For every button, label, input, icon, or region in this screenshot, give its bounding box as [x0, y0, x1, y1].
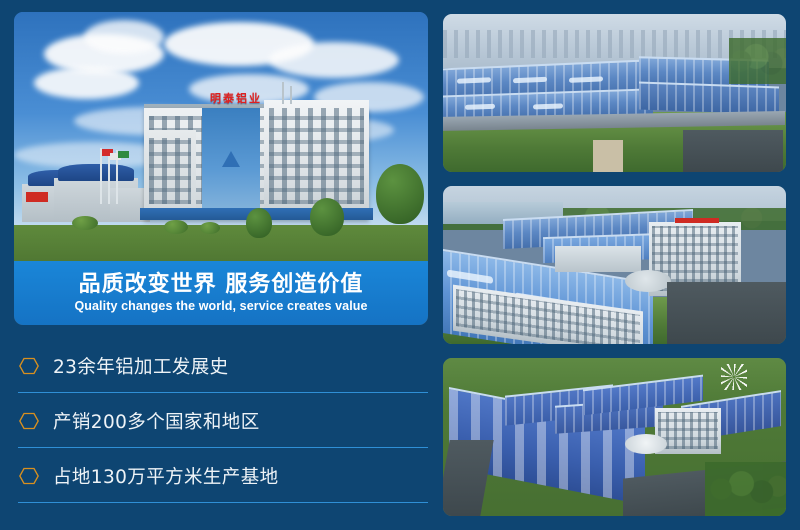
list-item[interactable]: 占地130万平方米生产基地 [14, 448, 428, 503]
building-sign-text: 明泰铝业 [210, 90, 262, 106]
low-office-building [555, 246, 641, 272]
cloud [34, 67, 139, 99]
window-grid [149, 138, 191, 204]
slogan-english: Quality changes the world, service creat… [74, 299, 367, 313]
bush [72, 216, 98, 230]
treeline [729, 38, 786, 84]
aerial-factory-wide-photo[interactable] [443, 14, 786, 172]
industrial-complex-photo[interactable] [443, 186, 786, 344]
fountain-plaza [625, 434, 667, 454]
list-item[interactable]: 产销200多个国家和地区 [14, 393, 428, 448]
bush [200, 222, 220, 234]
hexagon-bullet-icon [19, 466, 39, 486]
tree [310, 198, 344, 236]
treeline [705, 462, 786, 516]
parking-lot [683, 130, 783, 172]
facts-list: 23余年铝加工发展史 产销200多个国家和地区 占地130万平方米生产基地 [14, 338, 428, 503]
factory-shed-roof [58, 164, 134, 181]
office-building-left-wing [144, 130, 196, 220]
left-column: 明泰铝业 品质改变世界 服务创造价值 Quality changes the w… [14, 12, 428, 518]
bush [164, 220, 188, 234]
product-intro-page: 明泰铝业 品质改变世界 服务创造价值 Quality changes the w… [0, 0, 800, 530]
factory-roof [639, 82, 779, 115]
list-item-label: 23余年铝加工发展史 [53, 353, 229, 379]
red-signboard [26, 192, 48, 202]
window-grid [269, 108, 364, 204]
sunburst-icon [721, 364, 747, 390]
main-road [667, 282, 786, 344]
circular-plaza [625, 270, 671, 292]
tree [376, 164, 424, 224]
slogan-banner: 品质改变世界 服务创造价值 Quality changes the world,… [14, 261, 428, 325]
gallery-column [443, 14, 786, 516]
hexagon-bullet-icon [19, 356, 39, 376]
flag-pole [100, 148, 102, 204]
access-road [593, 140, 623, 172]
antenna-mast [290, 86, 292, 104]
window-grid [658, 412, 718, 449]
tree [246, 208, 272, 238]
cloud [84, 20, 164, 54]
rooftop-sign [675, 218, 719, 223]
industrial-park-rendering[interactable] [443, 358, 786, 516]
hexagon-bullet-icon [19, 411, 39, 431]
list-item-label: 占地130万平方米生产基地 [53, 463, 279, 489]
flag [118, 151, 129, 158]
roof-vent [465, 104, 495, 110]
roof-vent [533, 103, 563, 109]
antenna-mast [282, 82, 284, 104]
hero-card[interactable]: 明泰铝业 品质改变世界 服务创造价值 Quality changes the w… [14, 12, 428, 325]
list-item-label: 产销200多个国家和地区 [53, 408, 260, 434]
glass-curtain-entrance [202, 108, 260, 220]
slogan-chinese: 品质改变世界 服务创造价值 [79, 273, 364, 297]
list-item[interactable]: 23余年铝加工发展史 [14, 338, 428, 393]
cloud [269, 42, 399, 78]
roof-texture [639, 84, 779, 115]
